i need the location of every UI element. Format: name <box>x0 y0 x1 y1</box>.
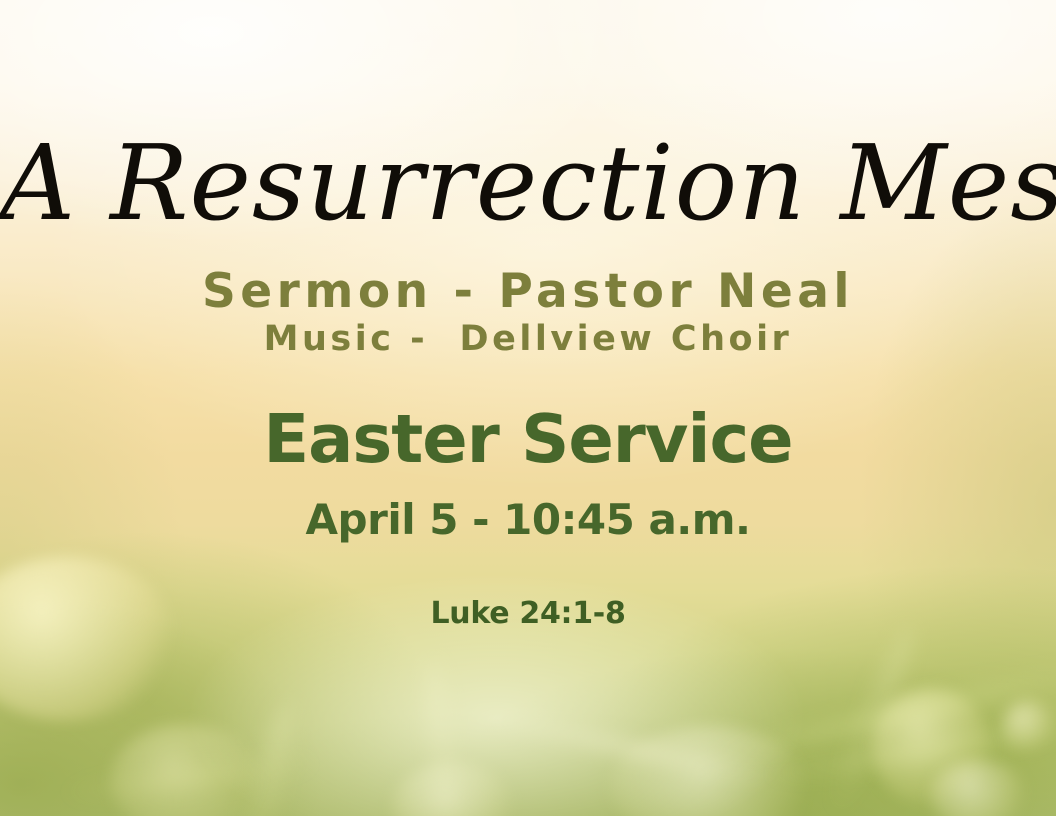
slide-title: A Resurrection Message <box>0 131 1056 235</box>
event-datetime: April 5 - 10:45 a.m. <box>0 499 1056 541</box>
slide-text-content: A Resurrection Message Sermon - Pastor N… <box>0 0 1056 816</box>
scripture-reference: Luke 24:1-8 <box>0 599 1056 629</box>
music-performer-line: Music - Dellview Choir <box>0 322 1056 357</box>
sermon-speaker-line: Sermon - Pastor Neal <box>0 268 1056 315</box>
easter-service-slide: A Resurrection Message Sermon - Pastor N… <box>0 0 1056 816</box>
event-name: Easter Service <box>0 406 1056 473</box>
